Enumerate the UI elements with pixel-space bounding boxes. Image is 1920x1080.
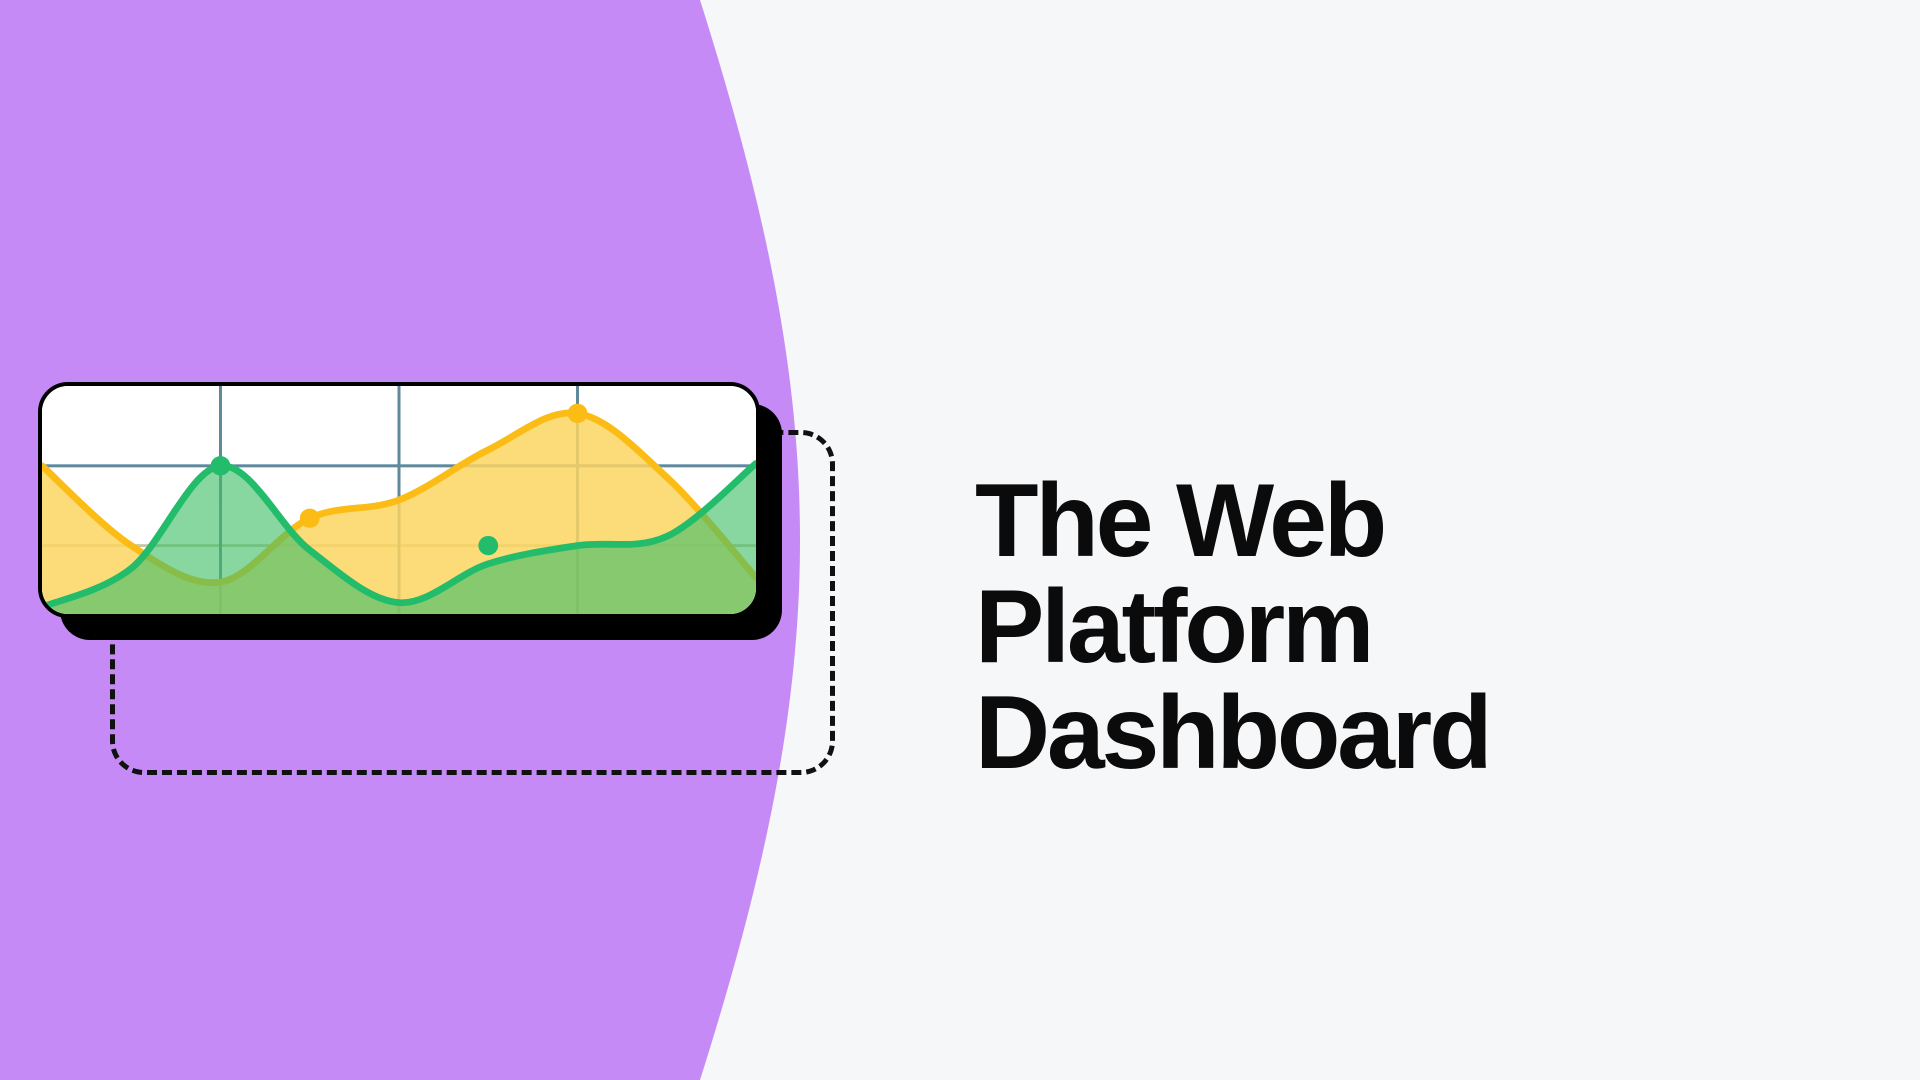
data-point-marker[interactable] xyxy=(568,404,588,423)
data-point-marker[interactable] xyxy=(211,456,231,475)
page-title-line-1: The Web xyxy=(975,468,1735,574)
data-point-marker[interactable] xyxy=(300,509,320,528)
page-title: The Web Platform Dashboard xyxy=(975,468,1735,786)
chart-card[interactable] xyxy=(38,382,760,618)
data-point-marker[interactable] xyxy=(478,536,498,555)
page-root: The Web Platform Dashboard xyxy=(0,0,1920,1080)
page-title-line-2: Platform xyxy=(975,574,1735,680)
area-chart[interactable] xyxy=(42,386,756,614)
page-title-line-3: Dashboard xyxy=(975,680,1735,786)
